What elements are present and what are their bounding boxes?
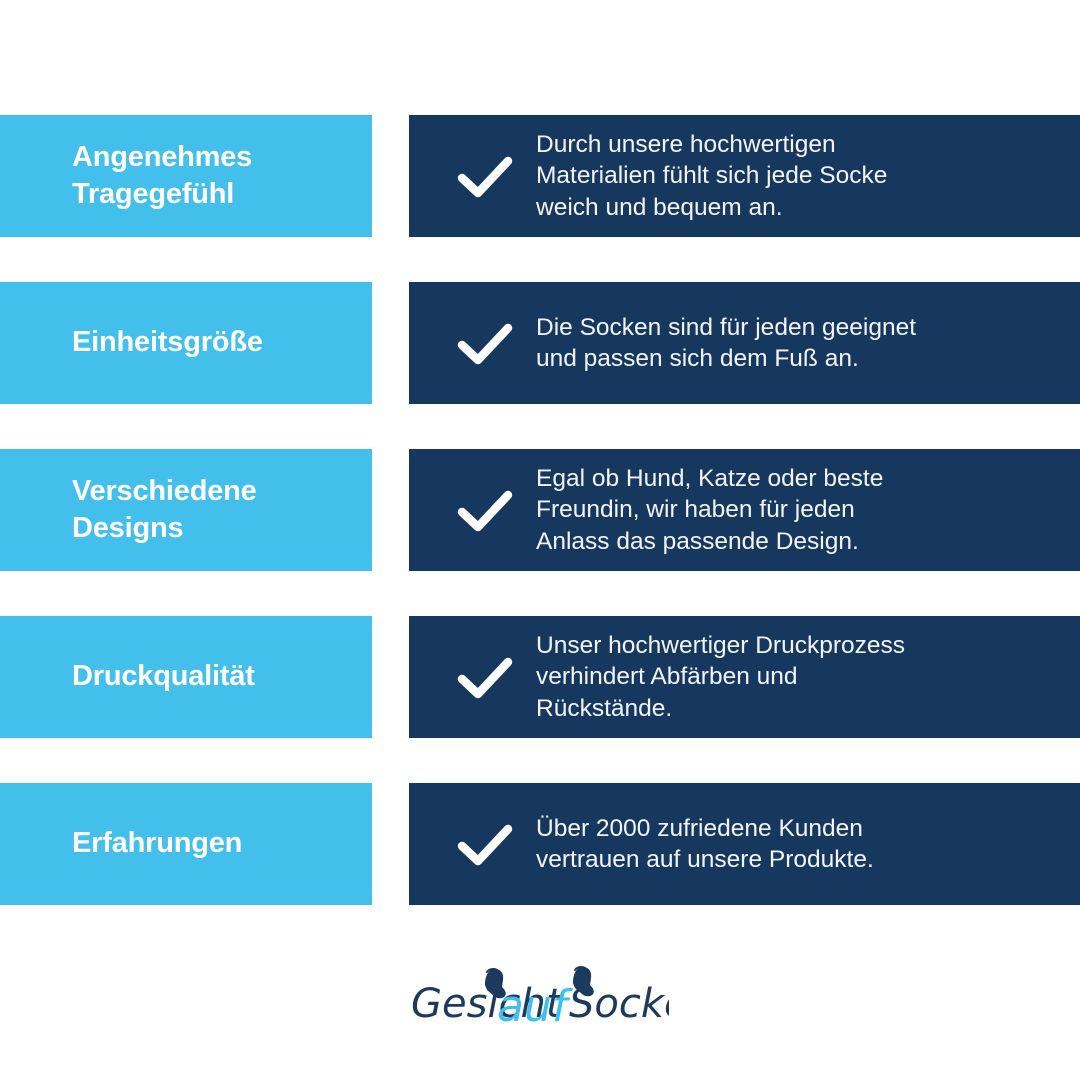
brand-logo: Gesicht auf Socken bbox=[0, 958, 1080, 1040]
feature-description-panel: Unser hochwertiger Druckprozess verhinde… bbox=[409, 616, 1080, 738]
feature-list-page: Angenehmes Tragegefühl Durch unsere hoch… bbox=[0, 0, 1080, 1080]
feature-rows: Angenehmes Tragegefühl Durch unsere hoch… bbox=[0, 115, 1080, 905]
check-icon bbox=[456, 487, 514, 533]
feature-label-band: Verschiedene Designs bbox=[0, 449, 372, 571]
feature-label-band: Erfahrungen bbox=[0, 783, 372, 905]
feature-label-band: Angenehmes Tragegefühl bbox=[0, 115, 372, 237]
feature-label: Erfahrungen bbox=[72, 825, 242, 862]
feature-description-panel: Über 2000 zufriedene Kunden vertrauen au… bbox=[409, 783, 1080, 905]
feature-description-panel: Durch unsere hochwertigen Materialien fü… bbox=[409, 115, 1080, 237]
feature-label-band: Druckqualität bbox=[0, 616, 372, 738]
feature-description: Durch unsere hochwertigen Materialien fü… bbox=[536, 129, 887, 222]
brand-logo-wordmark: Gesicht auf Socken bbox=[411, 963, 669, 1035]
feature-description: Über 2000 zufriedene Kunden vertrauen au… bbox=[536, 813, 874, 875]
check-icon bbox=[456, 153, 514, 199]
feature-description-panel: Die Socken sind für jeden geeignet und p… bbox=[409, 282, 1080, 404]
brand-logo-part-two: auf bbox=[497, 981, 574, 1032]
feature-label-band: Einheitsgröße bbox=[0, 282, 372, 404]
feature-row: Verschiedene Designs Egal ob Hund, Katze… bbox=[0, 449, 1080, 571]
brand-logo-part-three: Socken bbox=[569, 981, 669, 1027]
feature-row: Erfahrungen Über 2000 zufriedene Kunden … bbox=[0, 783, 1080, 905]
feature-row: Druckqualität Unser hochwertiger Druckpr… bbox=[0, 616, 1080, 738]
feature-label: Angenehmes Tragegefühl bbox=[72, 139, 252, 213]
feature-description-panel: Egal ob Hund, Katze oder beste Freundin,… bbox=[409, 449, 1080, 571]
feature-description: Unser hochwertiger Druckprozess verhinde… bbox=[536, 630, 905, 723]
feature-label: Druckqualität bbox=[72, 658, 255, 695]
feature-label: Verschiedene Designs bbox=[72, 473, 257, 547]
feature-row: Einheitsgröße Die Socken sind für jeden … bbox=[0, 282, 1080, 404]
check-icon bbox=[456, 320, 514, 366]
check-icon bbox=[456, 654, 514, 700]
check-icon bbox=[456, 821, 514, 867]
feature-row: Angenehmes Tragegefühl Durch unsere hoch… bbox=[0, 115, 1080, 237]
feature-label: Einheitsgröße bbox=[72, 324, 263, 361]
feature-description: Die Socken sind für jeden geeignet und p… bbox=[536, 312, 916, 374]
feature-description: Egal ob Hund, Katze oder beste Freundin,… bbox=[536, 463, 883, 556]
